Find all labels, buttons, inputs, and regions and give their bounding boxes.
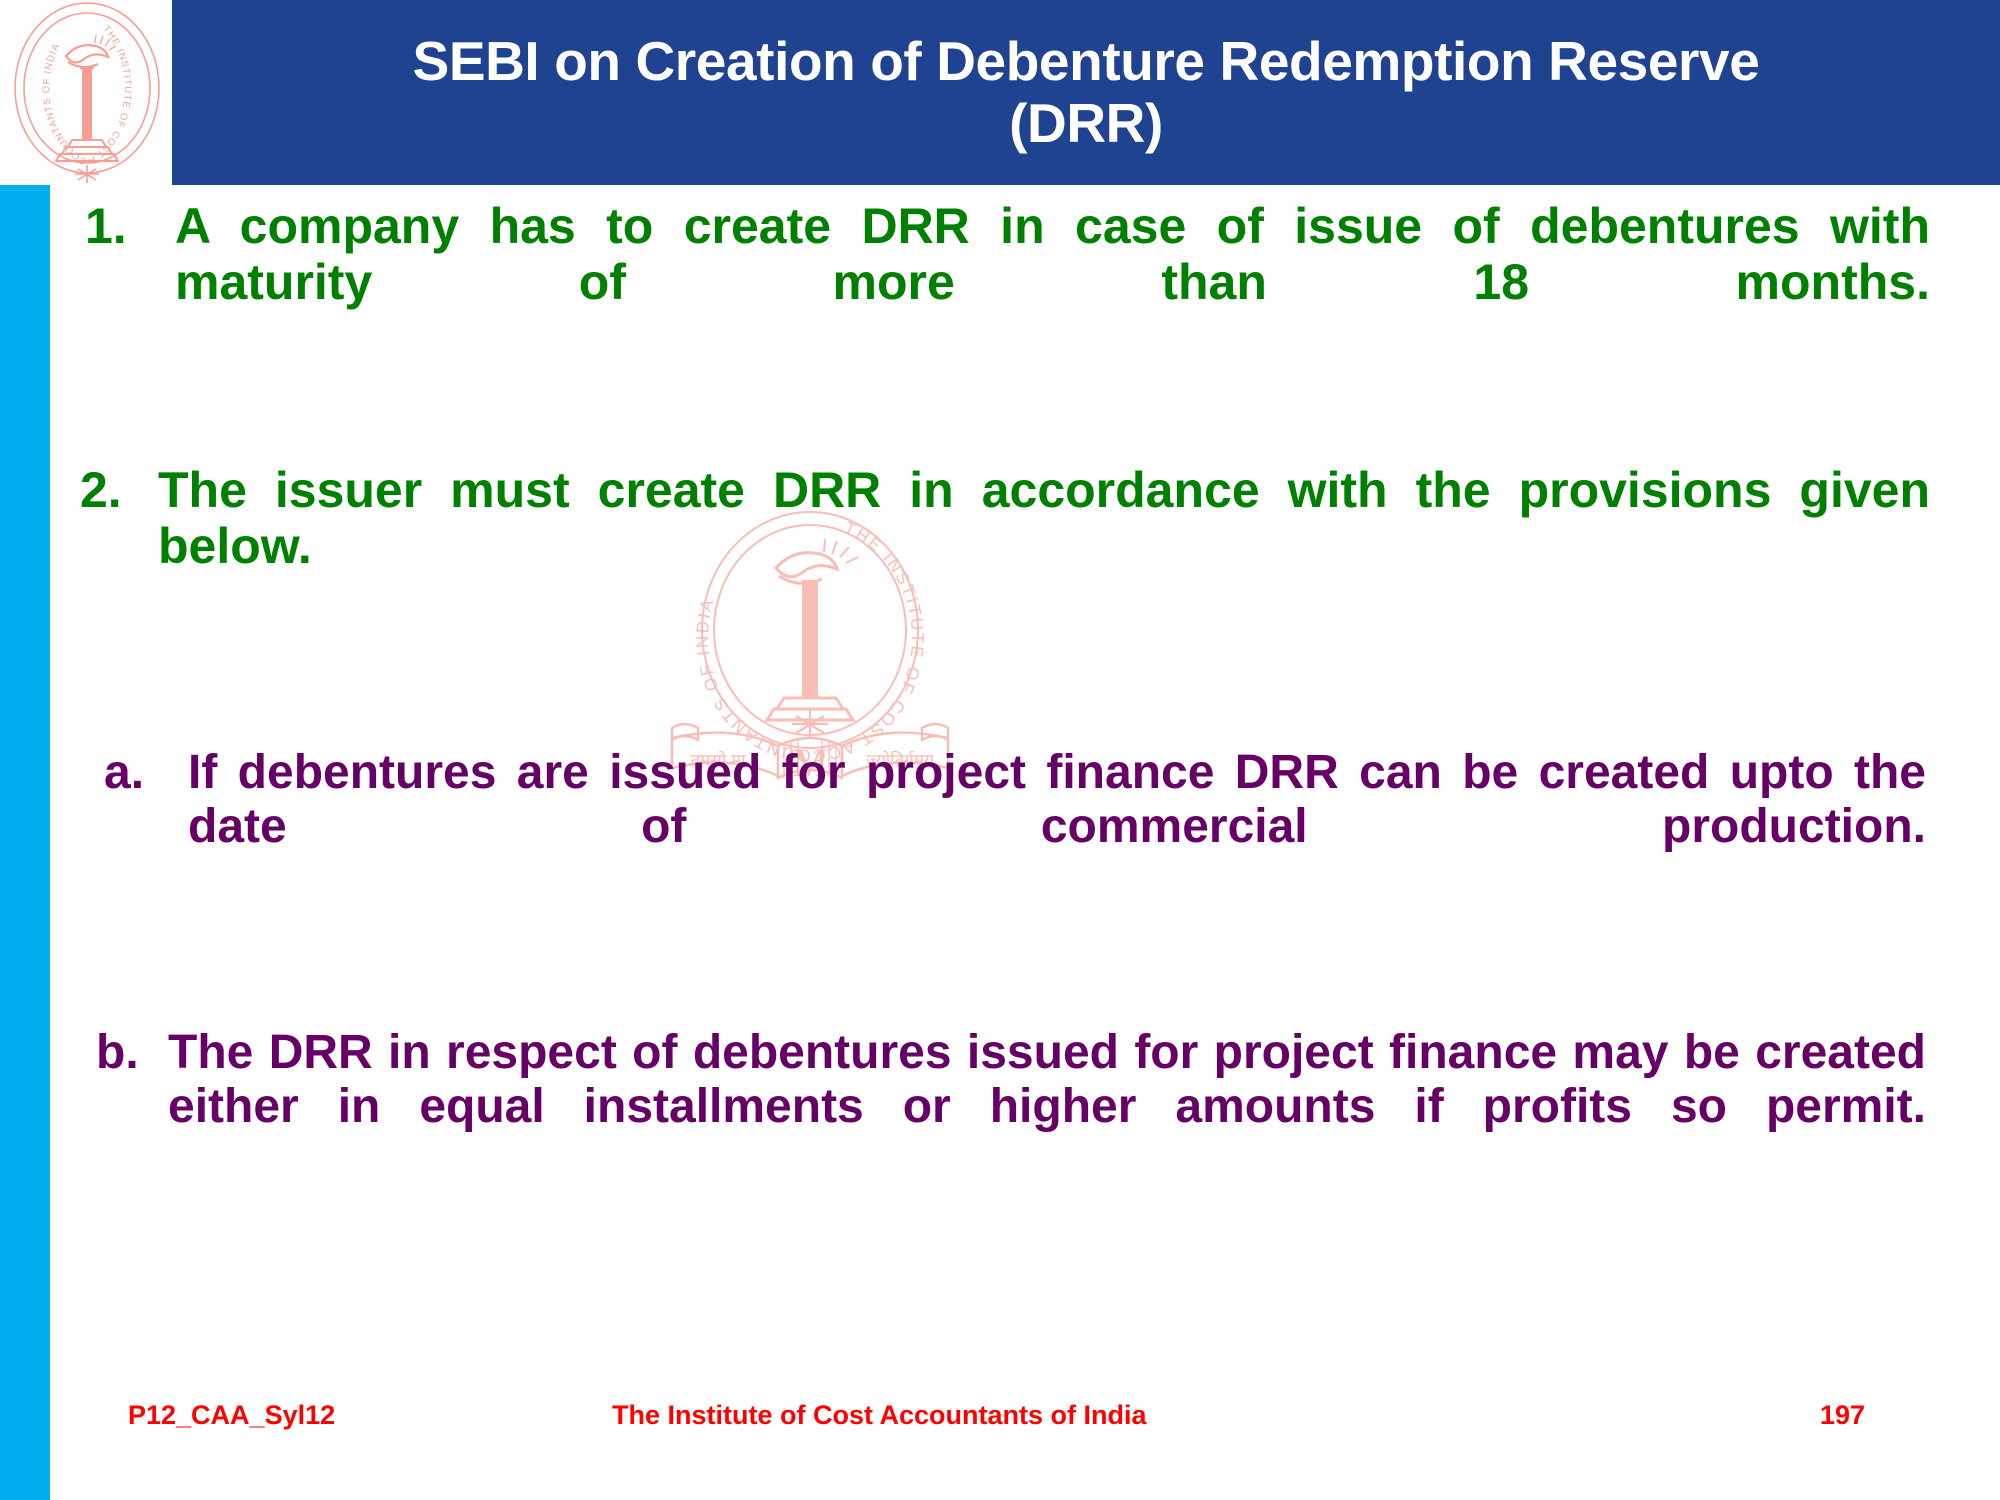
list-item-1-text: A company has to create DRR in case of i… (175, 198, 1930, 366)
footer-institute-name: The Institute of Cost Accountants of Ind… (612, 1400, 1147, 1431)
list-item-b-text: The DRR in respect of debentures issued … (168, 1026, 1926, 1189)
list-item-1-marker: 1. (85, 198, 175, 254)
slide-footer: P12_CAA_Syl12 The Institute of Cost Acco… (0, 1400, 2000, 1456)
list-item-a-text: If debentures are issued for project fin… (188, 746, 1926, 909)
list-item-1: 1. A company has to create DRR in case o… (85, 198, 1930, 366)
list-item-b: b. The DRR in respect of debentures issu… (96, 1026, 1926, 1189)
list-item-2-marker: 2. (80, 462, 158, 518)
footer-subject-code: P12_CAA_Syl12 (128, 1400, 335, 1431)
slide-header-band: SEBI on Creation of Debenture Redemption… (172, 0, 2000, 185)
list-item-a-marker: a. (104, 746, 188, 800)
page-title-line-2: (DRR) (212, 93, 1960, 155)
icai-logo-icon: THE INSTITUTE OF COST ACCOUNTANTS OF IND… (2, 0, 172, 185)
page-title-line-1: SEBI on Creation of Debenture Redemption… (212, 31, 1960, 93)
footer-page-number: 197 (1820, 1400, 1865, 1431)
list-item-a: a. If debentures are issued for project … (104, 746, 1926, 909)
page-title: SEBI on Creation of Debenture Redemption… (212, 31, 1960, 154)
left-accent-bar (0, 185, 50, 1500)
list-item-b-marker: b. (96, 1026, 168, 1080)
list-item-2: 2. The issuer must create DRR in accorda… (80, 462, 1930, 630)
slide-canvas: SEBI on Creation of Debenture Redemption… (0, 0, 2000, 1500)
list-item-2-text: The issuer must create DRR in accordance… (158, 462, 1930, 630)
slide-body: 1. A company has to create DRR in case o… (80, 198, 1930, 1358)
